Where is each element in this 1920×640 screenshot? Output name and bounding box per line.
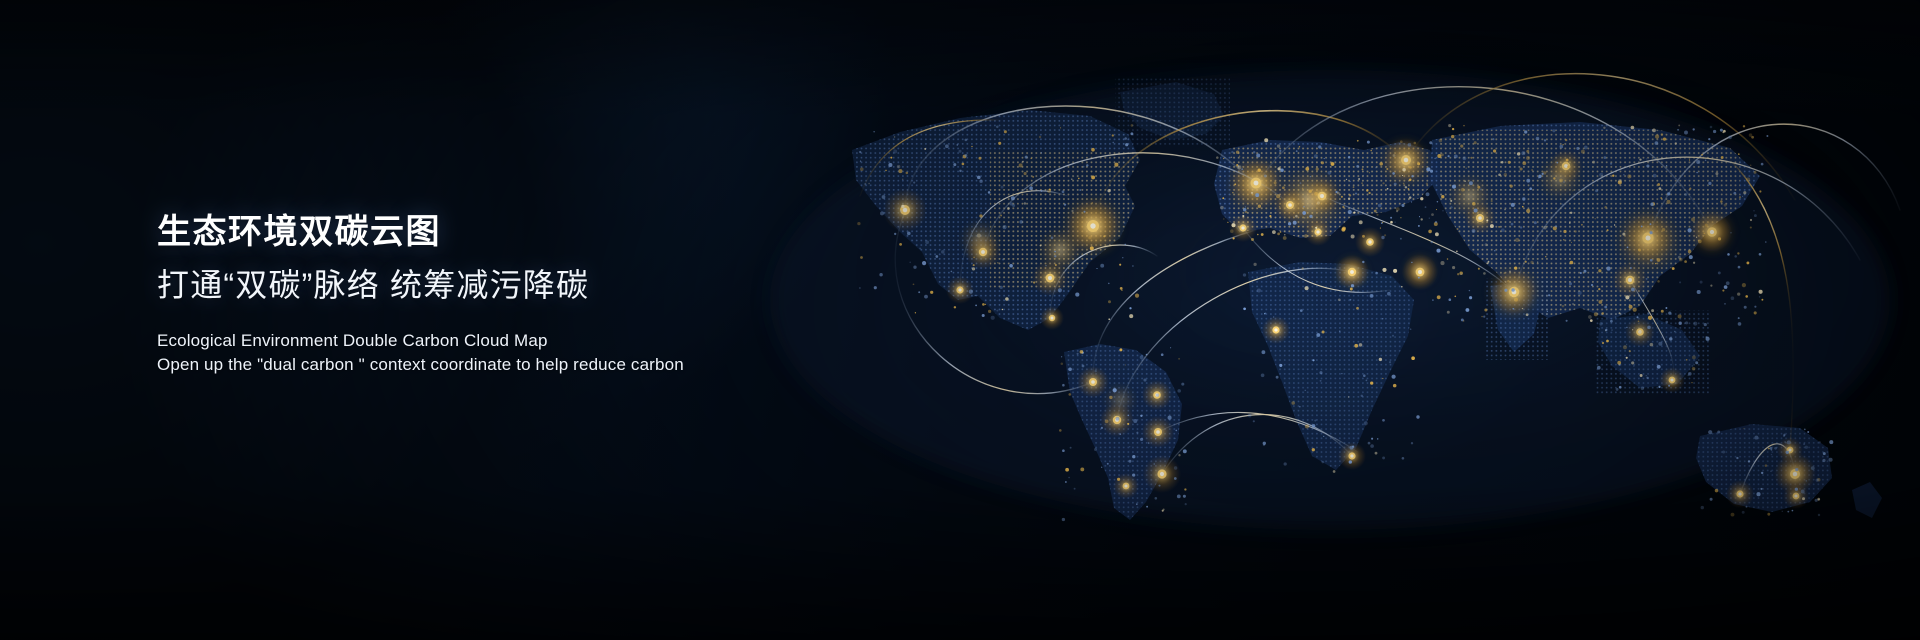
page-subtitle: 打通“双碳”脉络 统筹减污降碳 [157,266,877,304]
banner-text-block: 生态环境双碳云图 打通“双碳”脉络 统筹减污降碳 Ecological Envi… [157,212,877,377]
page-description-en: Ecological Environment Double Carbon Clo… [157,329,877,377]
description-line-1: Ecological Environment Double Carbon Clo… [157,329,877,353]
description-line-2: Open up the "dual carbon " context coord… [157,353,877,377]
page-title: 生态环境双碳云图 [157,212,877,252]
hero-banner: 生态环境双碳云图 打通“双碳”脉络 统筹减污降碳 Ecological Envi… [0,0,1920,640]
